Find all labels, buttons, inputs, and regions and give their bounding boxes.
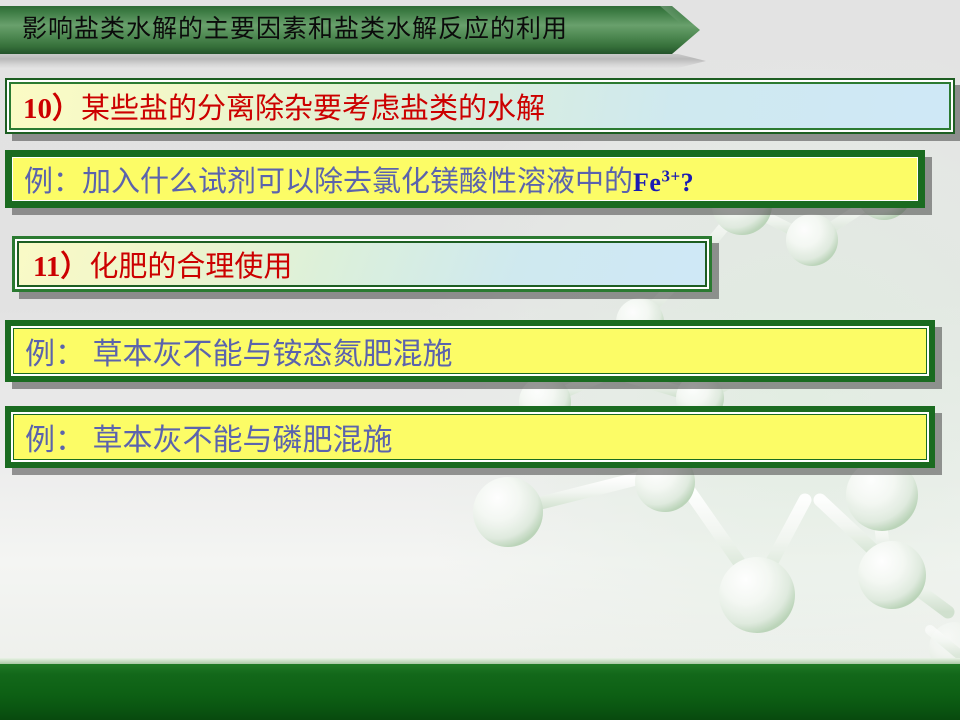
example-fe-question-mark: ? bbox=[681, 168, 694, 197]
box-frame: 例： 草本灰不能与铵态氮肥混施 bbox=[5, 320, 935, 382]
title-banner: 影响盐类水解的主要因素和盐类水解反应的利用 bbox=[0, 6, 700, 54]
box-frame: 10）某些盐的分离除杂要考虑盐类的水解 bbox=[5, 78, 955, 134]
content-box-item-10: 10）某些盐的分离除杂要考虑盐类的水解 bbox=[5, 78, 955, 134]
formula-charge: 3+ bbox=[661, 166, 680, 185]
example-phosphate-label: 例： 草本灰不能与磷肥混施 bbox=[25, 415, 393, 459]
box-frame: 例： 草本灰不能与磷肥混施 bbox=[5, 406, 935, 468]
item-10-number: 10） bbox=[23, 93, 81, 125]
box-frame: 例：加入什么试剂可以除去氯化镁酸性溶液中的Fe3+? bbox=[5, 150, 925, 208]
footer-bar bbox=[0, 664, 960, 720]
example-ammonium-label: 例： 草本灰不能与铵态氮肥混施 bbox=[25, 329, 453, 373]
content-box-example-fe: 例：加入什么试剂可以除去氯化镁酸性溶液中的Fe3+? bbox=[5, 150, 925, 208]
content-box-example-ammonium: 例： 草本灰不能与铵态氮肥混施 bbox=[5, 320, 935, 382]
item-10-text: 某些盐的分离除杂要考虑盐类的水解 bbox=[81, 93, 545, 125]
title-banner-shadow bbox=[0, 54, 706, 68]
item-10-label: 10）某些盐的分离除杂要考虑盐类的水解 bbox=[23, 85, 545, 127]
content-box-item-11: 11）化肥的合理使用 bbox=[12, 236, 712, 292]
box-frame: 11）化肥的合理使用 bbox=[12, 236, 712, 292]
item-11-label: 11）化肥的合理使用 bbox=[33, 243, 292, 285]
page-title: 影响盐类水解的主要因素和盐类水解反应的利用 bbox=[22, 6, 568, 54]
formula-element: Fe bbox=[633, 168, 661, 197]
content-box-example-phosphate: 例： 草本灰不能与磷肥混施 bbox=[5, 406, 935, 468]
formula-fe: Fe3+ bbox=[633, 168, 681, 197]
item-11-text: 化肥的合理使用 bbox=[89, 251, 292, 283]
item-11-number: 11） bbox=[33, 251, 89, 283]
slide-canvas: 影响盐类水解的主要因素和盐类水解反应的利用 10）某些盐的分离除杂要考虑盐类的水… bbox=[0, 0, 960, 720]
example-fe-label: 例：加入什么试剂可以除去氯化镁酸性溶液中的Fe3+? bbox=[24, 158, 694, 200]
example-fe-prefix: 例：加入什么试剂可以除去氯化镁酸性溶液中的 bbox=[24, 166, 633, 198]
